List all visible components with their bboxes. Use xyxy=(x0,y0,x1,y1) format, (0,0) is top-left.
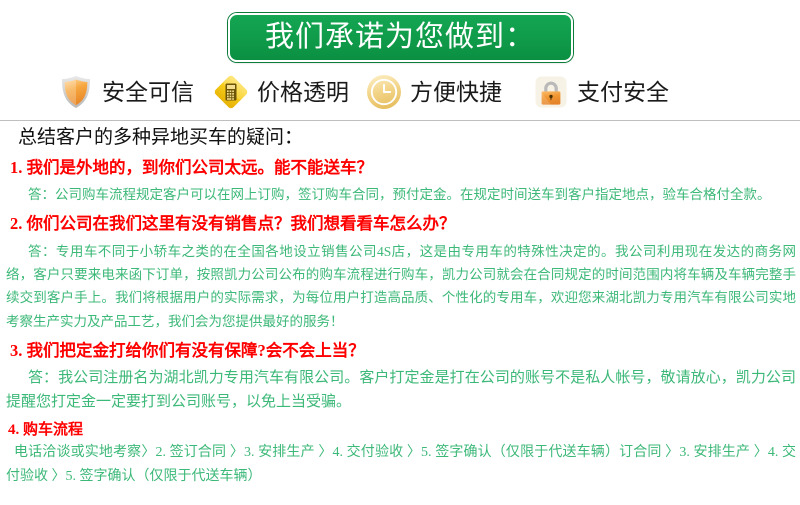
shield-icon xyxy=(57,73,95,111)
answer-3: 答：我公司注册名为湖北凯力专用汽车有限公司。客户打定金是打在公司的账号不是私人帐… xyxy=(6,366,796,415)
faq-heading: 总结客户的多种异地买车的疑问： xyxy=(18,126,796,150)
answer-1: 答：公司购车流程规定客户可以在网上订购，签订购车合同，预付定金。在规定时间送车到… xyxy=(6,183,796,206)
banner-title: 我们承诺为您做到： xyxy=(265,23,535,52)
feature-label-security: 安全可信 xyxy=(102,81,194,104)
purchase-flow-steps: 电话洽谈或实地考察〉2. 签订合同 〉3. 安排生产 〉4. 交付验收 〉5. … xyxy=(6,441,796,489)
feature-item-security: 安全可信 xyxy=(57,73,194,111)
section-divider xyxy=(0,120,800,121)
feature-item-price: 价格透明 xyxy=(212,73,349,111)
feature-label-price: 价格透明 xyxy=(257,81,349,104)
calculator-icon xyxy=(212,73,250,111)
clock-icon xyxy=(365,73,403,111)
feature-item-speed: 方便快捷 xyxy=(365,73,502,111)
feature-item-payment: 支付安全 xyxy=(532,73,669,111)
question-2: 2. 你们公司在我们这里有没有销售点？我们想看看车怎么办？ xyxy=(10,213,796,234)
question-1: 1. 我们是外地的，到你们公司太远。能不能送车？ xyxy=(10,157,796,178)
lock-icon xyxy=(532,73,570,111)
purchase-flow-title: 4. 购车流程 xyxy=(8,421,796,441)
feature-label-speed: 方便快捷 xyxy=(410,81,502,104)
question-3: 3. 我们把定金打给你们有没有保障?会不会上当？ xyxy=(10,340,796,361)
faq-section: 总结客户的多种异地买车的疑问： 1. 我们是外地的，到你们公司太远。能不能送车？… xyxy=(0,126,800,489)
answer-2: 答：专用车不同于小轿车之类的在全国各地设立销售公司4S店，这是由专用车的特殊性决… xyxy=(6,240,796,333)
promise-page: { "banner": { "text": "我们承诺为您做到：", "bg_c… xyxy=(0,0,800,505)
banner-container: 我们承诺为您做到： xyxy=(0,0,800,62)
feature-row: 安全可信 xyxy=(0,73,800,111)
feature-label-payment: 支付安全 xyxy=(577,81,669,104)
promise-banner: 我们承诺为您做到： xyxy=(228,13,573,62)
